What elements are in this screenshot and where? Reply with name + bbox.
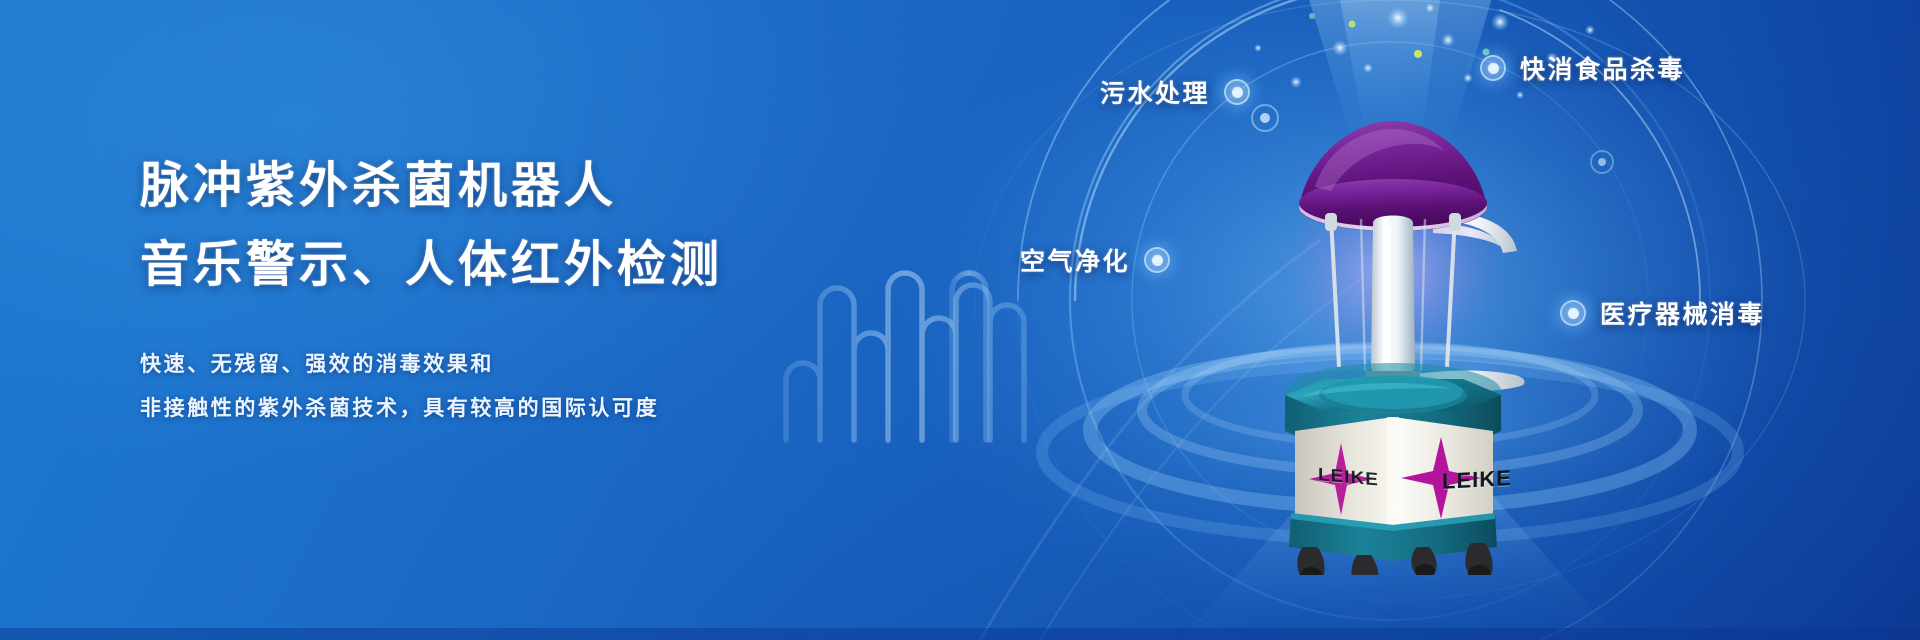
callout-label-air: 空气净化 [1020,242,1130,278]
callout-medical: 医疗器械消毒 [1560,295,1765,331]
callout-label-medical: 医疗器械消毒 [1600,295,1765,331]
headline-line-1: 脉冲紫外杀菌机器人 [140,150,900,221]
callout-label-wastewater: 污水处理 [1100,74,1210,110]
description-block: 快速、无残留、强效的消毒效果和 非接触性的紫外杀菌技术，具有较高的国际认可度 [140,342,900,430]
ring-dot-icon [1224,79,1250,105]
product-banner: 脉冲紫外杀菌机器人 音乐警示、人体红外检测 快速、无残留、强效的消毒效果和 非接… [0,0,1920,640]
ring-dot-icon [1480,55,1506,81]
main-body [1295,417,1493,527]
callout-food: 快消食品杀毒 [1480,50,1685,86]
headline-line-2: 音乐警示、人体红外检测 [140,229,900,300]
bottom-band [0,628,1920,640]
ring-dot-icon [1144,247,1170,273]
callout-air: 空气净化 [1020,242,1170,278]
callout-label-food: 快消食品杀毒 [1520,50,1685,86]
description-line-2: 非接触性的紫外杀菌技术，具有较高的国际认可度 [140,386,900,430]
robot-svg [1265,95,1565,575]
headline-block: 脉冲紫外杀菌机器人 音乐警示、人体红外检测 快速、无残留、强效的消毒效果和 非接… [140,150,900,430]
uv-disinfection-robot: LEIKE LEIKE [1265,95,1565,575]
description-line-1: 快速、无残留、强效的消毒效果和 [140,342,900,386]
callout-wastewater: 污水处理 [1100,74,1250,110]
